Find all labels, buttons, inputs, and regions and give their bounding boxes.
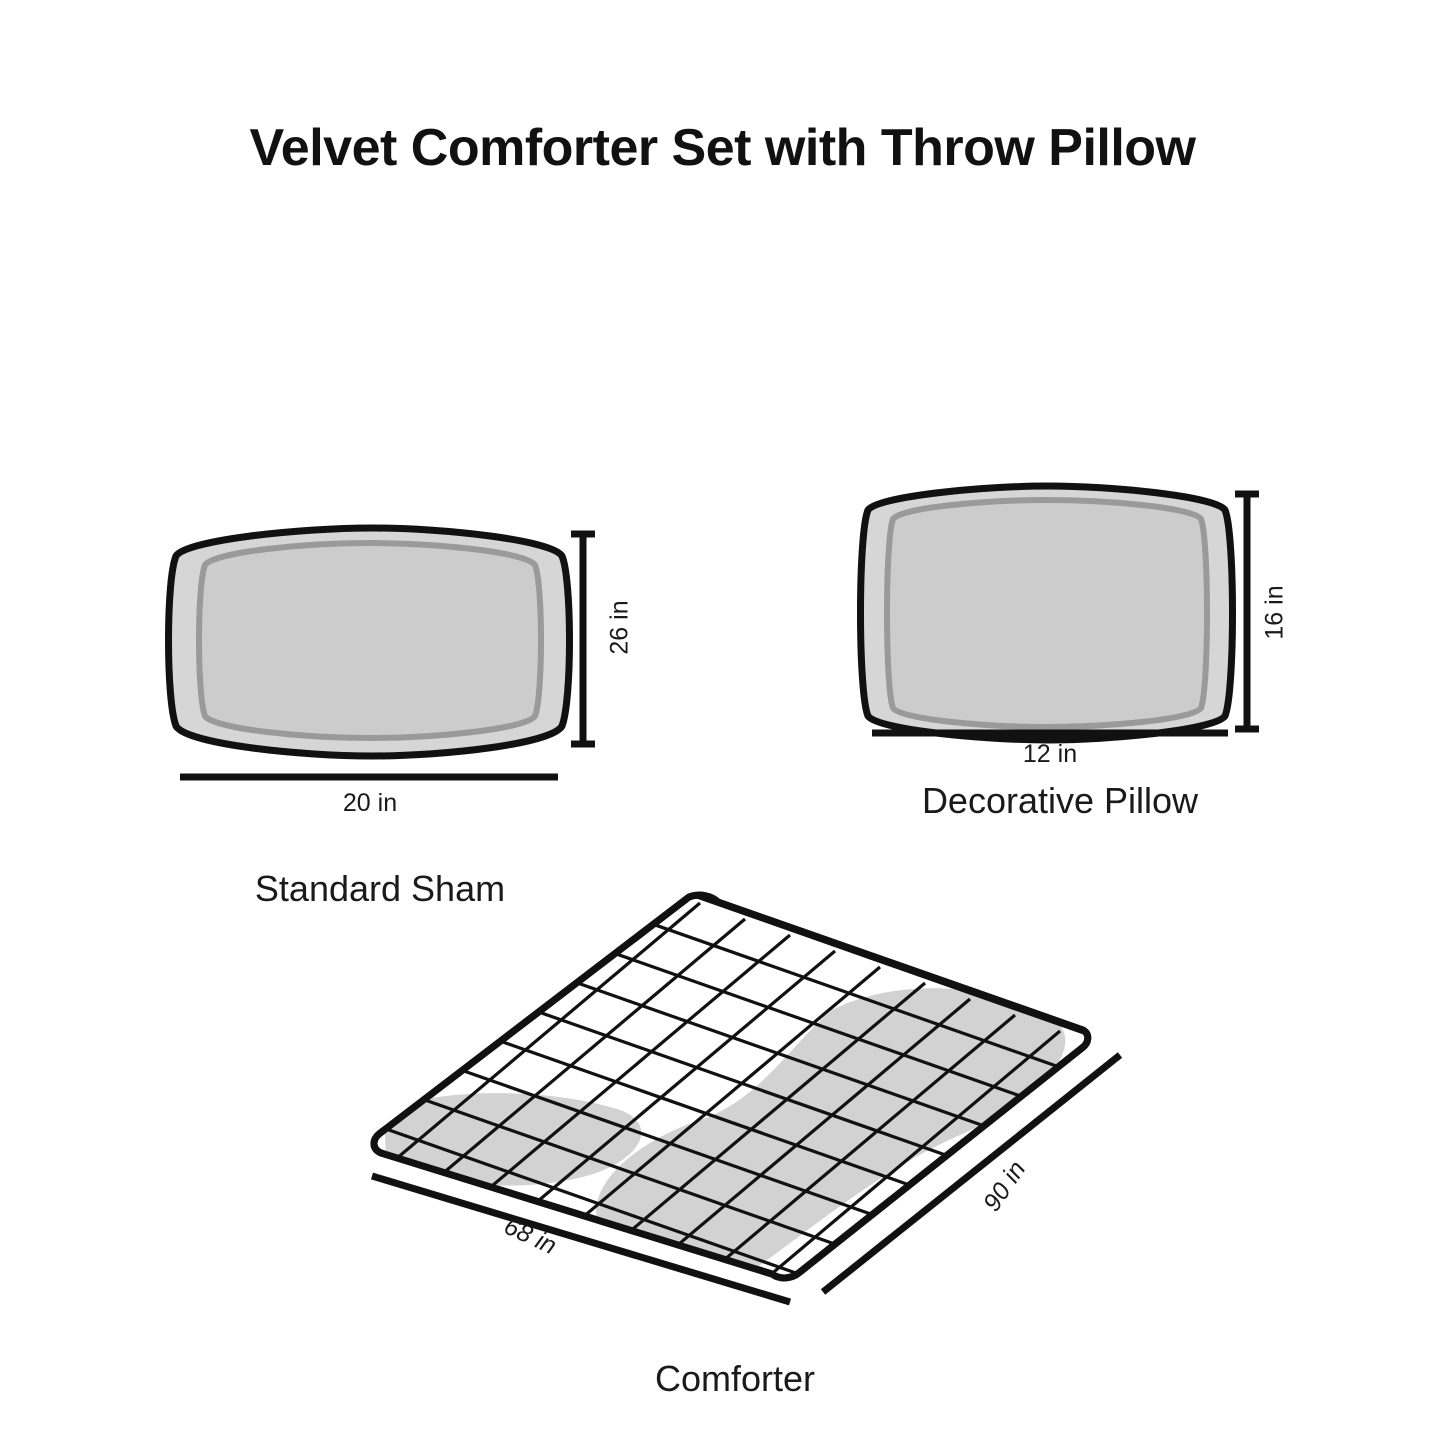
caption-decorative-pillow: Decorative Pillow	[810, 780, 1310, 822]
standard-sham-illustration	[169, 528, 570, 756]
diagram-page: Velvet Comforter Set with Throw Pillow	[0, 0, 1445, 1445]
dimension-sham-width: 20 in	[185, 789, 555, 818]
dimension-pillow-height: 16 in	[1261, 553, 1290, 673]
caption-standard-sham: Standard Sham	[120, 868, 640, 910]
comforter-illustration	[336, 884, 1105, 1308]
diagram-illustrations	[0, 0, 1445, 1445]
dimension-sham-height: 26 in	[606, 568, 635, 688]
caption-comforter: Comforter	[525, 1358, 945, 1400]
dimension-pillow-width: 12 in	[890, 740, 1210, 769]
decorative-pillow-illustration	[861, 486, 1233, 740]
